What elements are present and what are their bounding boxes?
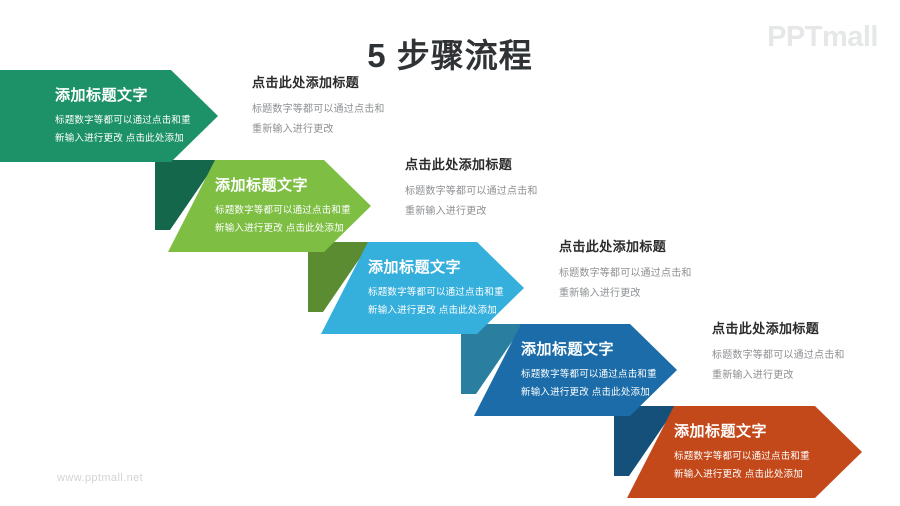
step-caption-3-body-line2: 重新输入进行更改 <box>559 284 692 304</box>
step-arrow-3[interactable]: 添加标题文字 标题数字等都可以通过点击和重 新输入进行更改 点击此处添加 <box>321 242 524 334</box>
page-title: 5 步骤流程 <box>0 38 900 74</box>
step-arrow-3-body-line2: 新输入进行更改 点击此处添加 <box>368 302 571 320</box>
step-arrow-5[interactable]: 添加标题文字 标题数字等都可以通过点击和重 新输入进行更改 点击此处添加 <box>627 406 862 498</box>
step-caption-3[interactable]: 点击此处添加标题 标题数字等都可以通过点击和 重新输入进行更改 <box>559 236 692 304</box>
step-caption-1-body-line2: 重新输入进行更改 <box>252 120 385 140</box>
step-arrow-5-body-line1: 标题数字等都可以通过点击和重 <box>674 448 900 466</box>
step-caption-4[interactable]: 点击此处添加标题 标题数字等都可以通过点击和 重新输入进行更改 <box>712 318 845 386</box>
step-arrow-4[interactable]: 添加标题文字 标题数字等都可以通过点击和重 新输入进行更改 点击此处添加 <box>474 324 677 416</box>
pptmall-logo: PPTmall <box>767 23 878 52</box>
step-caption-1[interactable]: 点击此处添加标题 标题数字等都可以通过点击和 重新输入进行更改 <box>252 72 385 140</box>
step-caption-3-body-line1: 标题数字等都可以通过点击和 <box>559 264 692 284</box>
step-arrow-3-title: 添加标题文字 <box>368 256 571 277</box>
step-caption-1-body-line1: 标题数字等都可以通过点击和 <box>252 100 385 120</box>
step-arrow-2-title: 添加标题文字 <box>215 174 418 195</box>
step-caption-1-title: 点击此处添加标题 <box>252 72 385 91</box>
step-arrow-2-body-line2: 新输入进行更改 点击此处添加 <box>215 220 418 238</box>
step-caption-4-body-line2: 重新输入进行更改 <box>712 366 845 386</box>
step-arrow-5-title: 添加标题文字 <box>674 420 900 441</box>
step-caption-4-body-line1: 标题数字等都可以通过点击和 <box>712 346 845 366</box>
step-arrow-2[interactable]: 添加标题文字 标题数字等都可以通过点击和重 新输入进行更改 点击此处添加 <box>168 160 371 252</box>
slide-canvas: 5 步骤流程 PPTmall 添加标题文字 标题数字等都可以通过点击和重 新输入… <box>0 0 900 506</box>
step-arrow-4-body-line2: 新输入进行更改 点击此处添加 <box>521 384 724 402</box>
step-caption-4-title: 点击此处添加标题 <box>712 318 845 337</box>
step-arrow-4-body-line1: 标题数字等都可以通过点击和重 <box>521 366 724 384</box>
step-caption-2-body-line2: 重新输入进行更改 <box>405 202 538 222</box>
step-arrow-3-body-line1: 标题数字等都可以通过点击和重 <box>368 284 571 302</box>
step-caption-2-title: 点击此处添加标题 <box>405 154 538 173</box>
step-arrow-4-title: 添加标题文字 <box>521 338 724 359</box>
step-caption-2[interactable]: 点击此处添加标题 标题数字等都可以通过点击和 重新输入进行更改 <box>405 154 538 222</box>
step-caption-2-body-line1: 标题数字等都可以通过点击和 <box>405 182 538 202</box>
step-arrow-1[interactable]: 添加标题文字 标题数字等都可以通过点击和重 新输入进行更改 点击此处添加 <box>0 70 218 162</box>
step-arrow-2-body-line1: 标题数字等都可以通过点击和重 <box>215 202 418 220</box>
footer-url: www.pptmall.net <box>57 472 143 484</box>
step-caption-3-title: 点击此处添加标题 <box>559 236 692 255</box>
step-arrow-5-body-line2: 新输入进行更改 点击此处添加 <box>674 466 900 484</box>
